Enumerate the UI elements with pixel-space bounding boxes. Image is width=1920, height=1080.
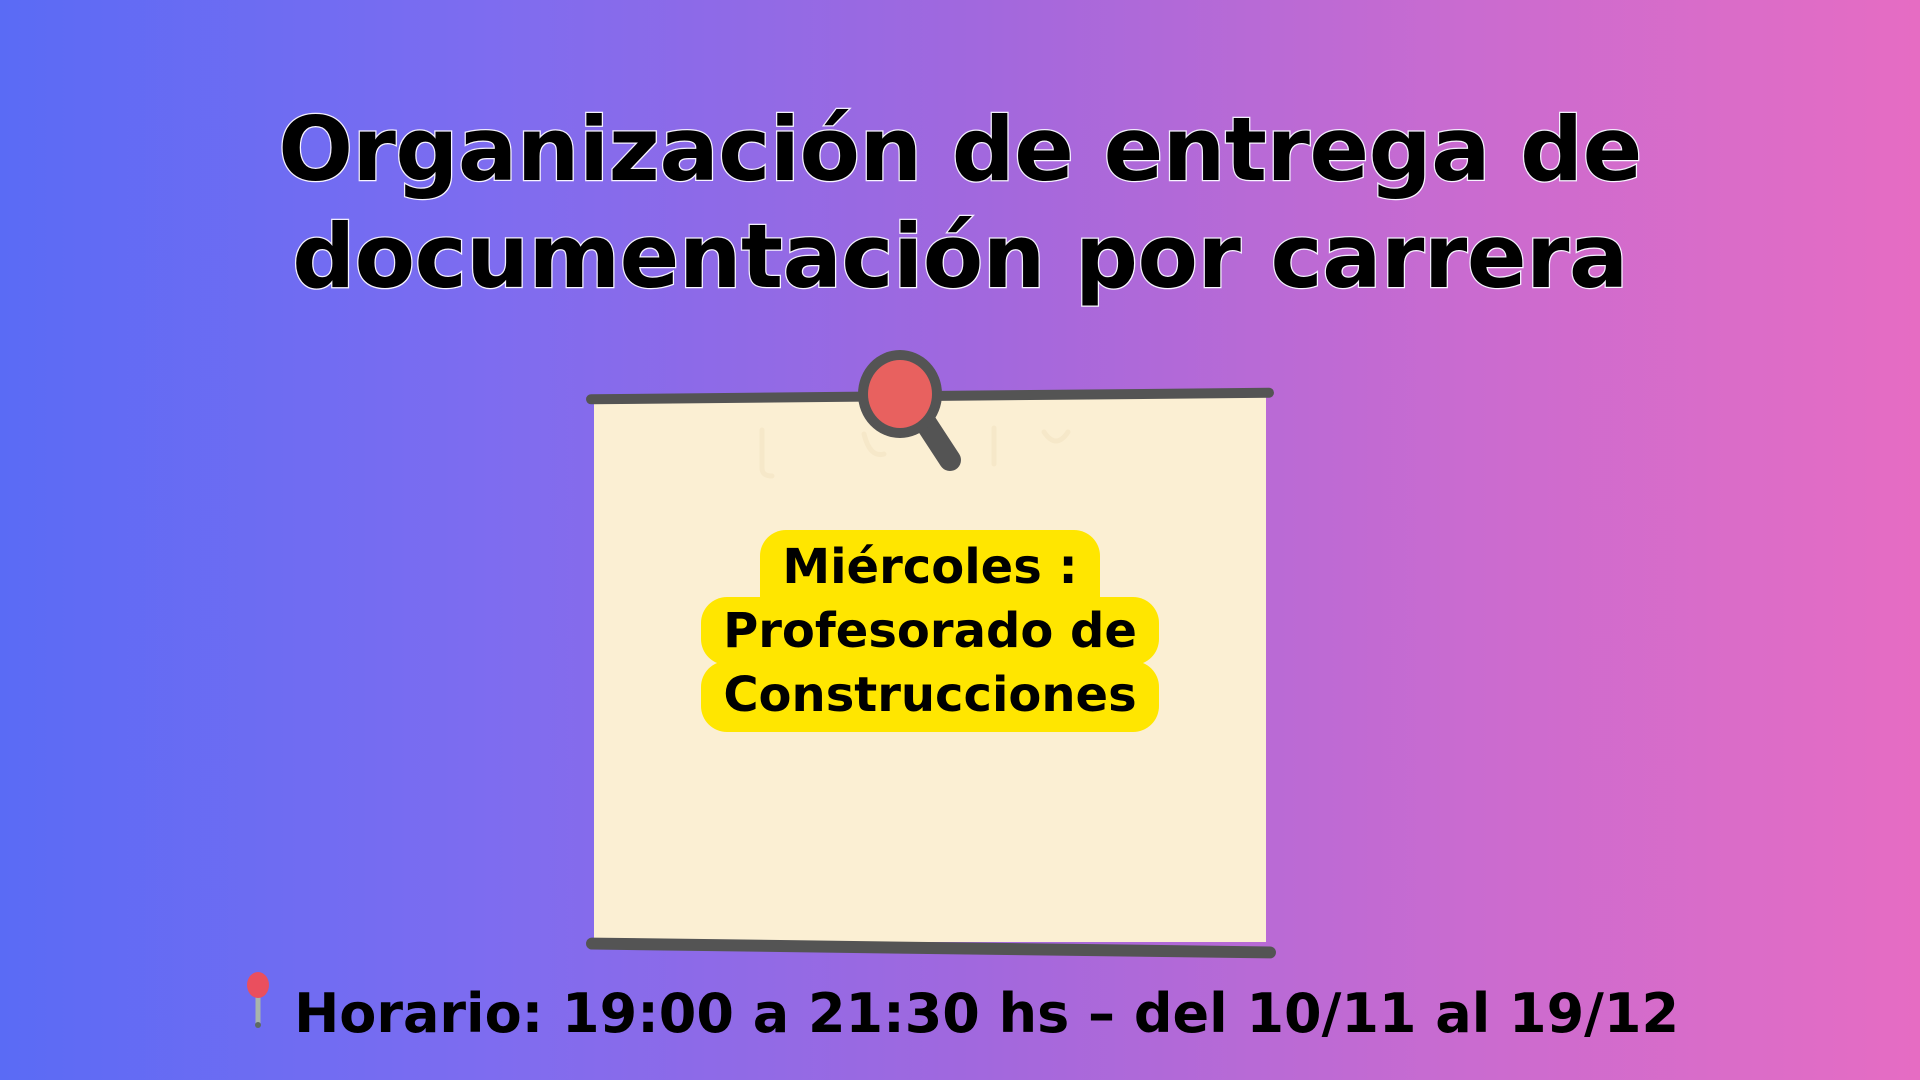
highlight-row-1: Miércoles :: [594, 530, 1266, 601]
page-title: Organización de entrega de documentación…: [0, 96, 1920, 311]
footer-schedule: Horario: 19:00 a 21:30 hs – del 10/11 al…: [0, 972, 1920, 1045]
footer-schedule-text: Horario: 19:00 a 21:30 hs – del 10/11 al…: [294, 982, 1679, 1045]
highlight-line-2: Profesorado de: [701, 597, 1159, 665]
highlight-line-3: Construcciones: [701, 661, 1158, 732]
paper-texture-marks: [744, 424, 1104, 484]
title-line-1: Organización de entrega de: [0, 96, 1920, 203]
slide-canvas: Organización de entrega de documentación…: [0, 0, 1920, 1080]
title-line-2: documentación por carrera: [0, 203, 1920, 310]
note-highlight-text: Miércoles : Profesorado de Construccione…: [594, 530, 1266, 732]
highlight-line-1: Miércoles :: [760, 530, 1099, 601]
highlight-row-2: Profesorado de: [594, 601, 1266, 665]
highlight-row-3: Construcciones: [594, 665, 1266, 732]
round-pushpin-icon: [241, 972, 275, 1028]
